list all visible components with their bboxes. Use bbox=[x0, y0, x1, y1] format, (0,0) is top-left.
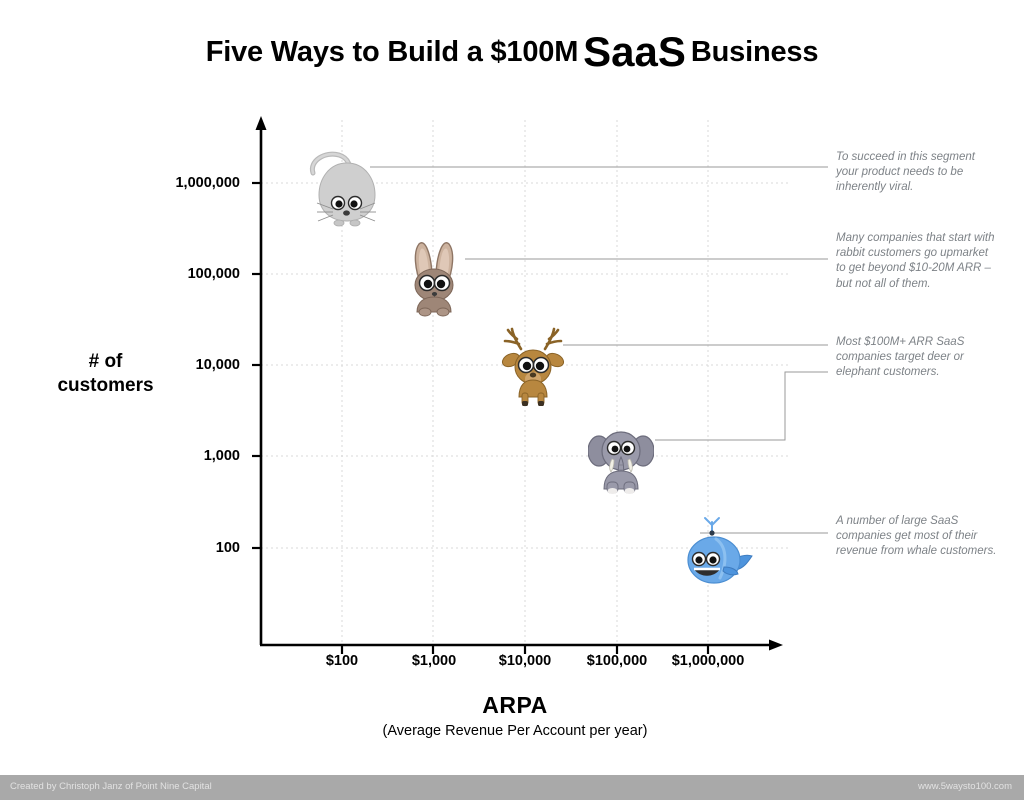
annotation-line: companies target deer or bbox=[836, 351, 964, 363]
chart-area: 1,000,000 100,000 10,000 1,000 100 $100 … bbox=[0, 0, 1024, 800]
x-axis-title: ARPA (Average Revenue Per Account per ye… bbox=[310, 692, 720, 739]
annotation-line: Most $100M+ ARR SaaS bbox=[836, 336, 964, 348]
y-tick-label: 100,000 bbox=[120, 266, 240, 282]
whale-icon bbox=[680, 516, 758, 593]
x-axis-title-main: ARPA bbox=[310, 692, 720, 719]
annotation-line: Many companies that start with bbox=[836, 232, 995, 244]
y-axis-title: # of customers bbox=[28, 350, 183, 398]
footer-website[interactable]: www.5waysto100.com bbox=[918, 781, 1012, 792]
y-axis-title-line2: customers bbox=[57, 375, 153, 396]
rabbit-icon bbox=[403, 240, 471, 323]
y-tick-label: 1,000 bbox=[120, 448, 240, 464]
annotation-line: companies get most of their bbox=[836, 530, 977, 542]
y-axis-arrow bbox=[256, 116, 267, 130]
mouse-icon bbox=[305, 145, 381, 234]
y-axis-title-line1: # of bbox=[89, 351, 123, 372]
annotation-line: inherently viral. bbox=[836, 181, 913, 193]
annotation-line: to get beyond $10-20M ARR – bbox=[836, 262, 991, 274]
annotation-line: your product needs to be bbox=[836, 166, 963, 178]
deer-icon bbox=[499, 327, 567, 414]
annotation-line: To succeed in this segment bbox=[836, 151, 975, 163]
annotation-mouse: To succeed in this segment your product … bbox=[836, 150, 1016, 196]
x-axis-arrow bbox=[769, 640, 783, 651]
annotation-deer-elephant: Most $100M+ ARR SaaS companies target de… bbox=[836, 335, 1016, 381]
annotation-line: rabbit customers go upmarket bbox=[836, 247, 988, 259]
footer-credit: Created by Christoph Janz of Point Nine … bbox=[10, 781, 212, 792]
annotation-line: revenue from whale customers. bbox=[836, 545, 996, 557]
x-axis-title-sub: (Average Revenue Per Account per year) bbox=[310, 723, 720, 739]
connector-elephant bbox=[655, 372, 828, 440]
x-tick-label: $1,000,000 bbox=[648, 653, 768, 669]
elephant-icon bbox=[588, 425, 654, 502]
annotation-line: but not all of them. bbox=[836, 278, 931, 290]
y-tick-label: 1,000,000 bbox=[120, 175, 240, 191]
footer-bar: Created by Christoph Janz of Point Nine … bbox=[0, 775, 1024, 800]
y-tick-label: 100 bbox=[120, 540, 240, 556]
annotation-line: elephant customers. bbox=[836, 366, 940, 378]
annotation-line: A number of large SaaS bbox=[836, 515, 958, 527]
annotation-rabbit: Many companies that start with rabbit cu… bbox=[836, 231, 1016, 292]
annotation-whale: A number of large SaaS companies get mos… bbox=[836, 514, 1016, 560]
